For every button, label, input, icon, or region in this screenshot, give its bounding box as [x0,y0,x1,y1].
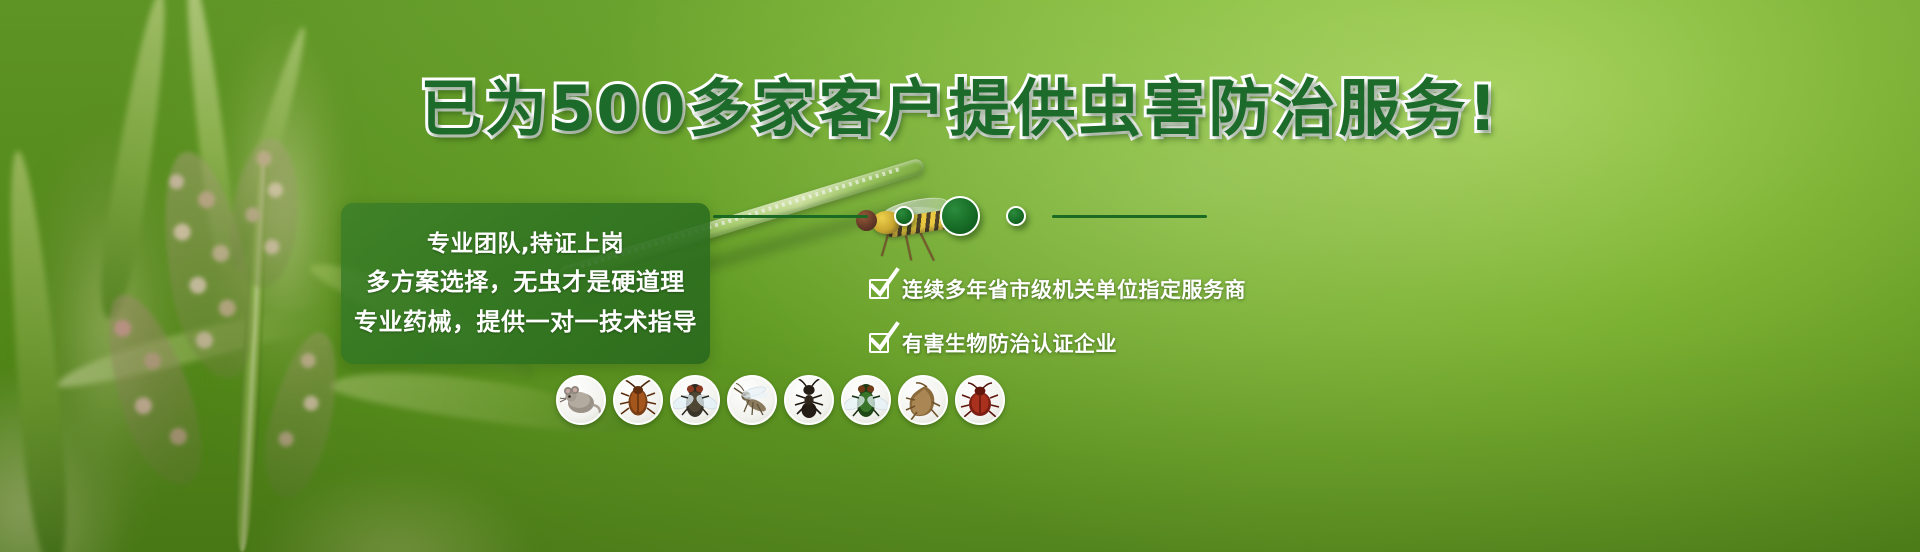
banner-headline-text: 已为500多家客户提供虫害防治服务! [420,72,1500,145]
bedbug-icon[interactable] [955,375,1005,425]
pest-icon-strip [556,375,1005,425]
divider-dot-large [940,196,980,236]
rodent-icon[interactable] [556,375,606,425]
credential-text: 连续多年省市级机关单位指定服务商 [902,274,1246,304]
credential-text: 有害生物防治认证企业 [902,328,1117,358]
feature-card: 专业团队,持证上岗 多方案选择，无虫才是硬道理 专业药械，提供一对一技术指导 [341,203,710,364]
flea-icon[interactable] [898,375,948,425]
feature-line-1: 专业团队,持证上岗 [427,232,624,256]
mosquito-icon[interactable] [727,375,777,425]
credential-item: 连续多年省市级机关单位指定服务商 [869,274,1246,304]
banner-headline: 已为500多家客户提供虫害防治服务! [0,78,1920,140]
credentials-list: 连续多年省市级机关单位指定服务商 有害生物防治认证企业 [869,274,1246,358]
housefly-icon[interactable] [670,375,720,425]
cockroach-icon[interactable] [613,375,663,425]
hero-banner: 已为500多家客户提供虫害防治服务! 专业团队,持证上岗 多方案选择，无虫才是硬… [0,0,1920,552]
greenfly-icon[interactable] [841,375,891,425]
check-icon [869,333,889,353]
ant-icon[interactable] [784,375,834,425]
divider-dot-small-left [894,206,914,226]
divider-dot-small-right [1006,206,1026,226]
credential-item: 有害生物防治认证企业 [869,328,1246,358]
divider-line-right [1052,215,1207,218]
divider-line-left [713,215,868,218]
feature-line-2: 多方案选择，无虫才是硬道理 [366,270,685,295]
check-icon [869,279,889,299]
feature-line-3: 专业药械，提供一对一技术指导 [354,310,697,335]
decorative-divider [0,196,1920,236]
